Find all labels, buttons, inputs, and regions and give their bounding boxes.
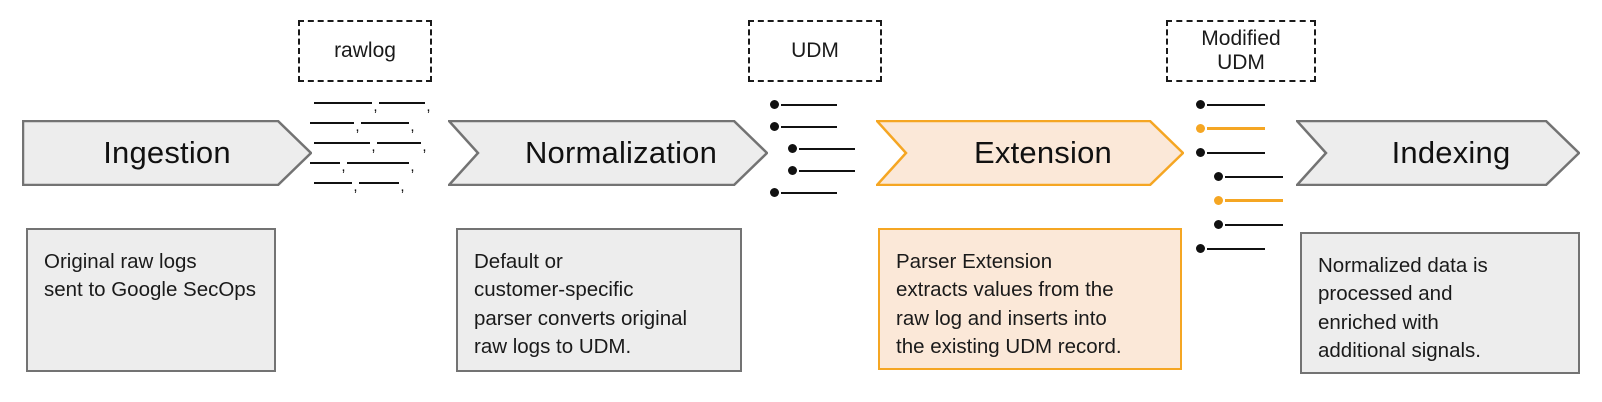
rawlog-dash [379, 102, 425, 104]
udm-bullet-icon [1196, 100, 1205, 109]
rawlog-dash [314, 102, 372, 104]
description-line: parser converts original [474, 305, 726, 333]
udm-bullet-icon [1214, 196, 1223, 205]
udm-field-row [788, 166, 855, 175]
udm-bullet-icon [1196, 124, 1205, 133]
artifact-label-rawlog: rawlog [298, 20, 432, 82]
udm-value-line [1207, 127, 1265, 130]
artifact-label-udm: UDM [748, 20, 882, 82]
description-line: the existing UDM record. [896, 333, 1166, 361]
udm-field-row [770, 100, 837, 109]
description-line: Original raw logs [44, 248, 260, 276]
artifact-label-modified-udm: ModifiedUDM [1166, 20, 1316, 82]
udm-bullet-icon [770, 122, 779, 131]
artifact-label-line: Modified [1201, 27, 1280, 51]
udm-field-row [770, 188, 837, 197]
stage-normalization[interactable]: Normalization [448, 120, 768, 186]
rawlog-line: ,, [310, 118, 416, 128]
udm-bullet-icon [770, 188, 779, 197]
rawlog-line: ,, [310, 158, 416, 168]
rawlog-line: ,, [314, 178, 406, 188]
udm-field-row [770, 122, 837, 131]
rawlog-dash [347, 162, 409, 164]
artifact-label-text: rawlog [334, 39, 396, 63]
description-line: customer-specific [474, 276, 726, 304]
description-line: raw logs to UDM. [474, 333, 726, 361]
udm-value-line [1225, 224, 1283, 226]
rawlog-line: ,, [314, 138, 428, 148]
artifact-label-line: UDM [791, 39, 839, 63]
artifact-label-line: rawlog [334, 39, 396, 63]
description-line: Normalized data is [1318, 252, 1564, 280]
artifact-label-line: UDM [1201, 51, 1280, 75]
description-line: extracts values from the [896, 276, 1166, 304]
rawlog-dash [361, 122, 409, 124]
stage-shape [448, 120, 768, 186]
stage-extension[interactable]: Extension [876, 120, 1184, 186]
rawlog-dash [314, 182, 352, 184]
description-line: raw log and inserts into [896, 305, 1166, 333]
udm-bullet-icon [1196, 148, 1205, 157]
stage-shape [876, 120, 1184, 186]
rawlog-dash [310, 122, 354, 124]
udm-field-row [788, 144, 855, 153]
udm-field-row [1196, 124, 1265, 133]
udm-bullet-icon [1214, 220, 1223, 229]
udm-value-line [799, 148, 855, 150]
udm-bullet-icon [788, 166, 797, 175]
stage-indexing[interactable]: Indexing [1296, 120, 1580, 186]
description-line: processed and [1318, 280, 1564, 308]
udm-value-line [1225, 199, 1283, 202]
udm-field-row [1196, 244, 1265, 253]
description-line: additional signals. [1318, 337, 1564, 365]
udm-value-line [1225, 176, 1283, 178]
stage-shape [22, 120, 312, 186]
artifact-label-text: ModifiedUDM [1201, 27, 1280, 74]
pipeline-diagram: rawlogUDMModifiedUDMIngestionNormalizati… [0, 0, 1602, 402]
description-line: sent to Google SecOps [44, 276, 260, 304]
description-line: enriched with [1318, 309, 1564, 337]
description-line: Parser Extension [896, 248, 1166, 276]
udm-bullet-icon [1196, 244, 1205, 253]
udm-field-row [1214, 172, 1283, 181]
udm-value-line [1207, 104, 1265, 106]
udm-value-line [781, 192, 837, 194]
indexing-description: Normalized data isprocessed andenriched … [1300, 232, 1580, 374]
udm-bullet-icon [1214, 172, 1223, 181]
rawlog-dash [359, 182, 399, 184]
udm-field-row [1196, 148, 1265, 157]
udm-bullet-icon [788, 144, 797, 153]
artifact-label-text: UDM [791, 39, 839, 63]
udm-value-line [1207, 248, 1265, 250]
udm-value-line [781, 126, 837, 128]
rawlog-dash [314, 142, 370, 144]
normalization-description: Default orcustomer-specificparser conver… [456, 228, 742, 372]
udm-value-line [1207, 152, 1265, 154]
stage-shape [1296, 120, 1580, 186]
udm-field-row [1214, 196, 1283, 205]
udm-value-line [799, 170, 855, 172]
stage-ingestion[interactable]: Ingestion [22, 120, 312, 186]
udm-value-line [781, 104, 837, 106]
udm-field-row [1214, 220, 1283, 229]
rawlog-dash [377, 142, 421, 144]
udm-field-row [1196, 100, 1265, 109]
description-line: Default or [474, 248, 726, 276]
ingestion-description: Original raw logssent to Google SecOps [26, 228, 276, 372]
rawlog-line: ,, [314, 98, 432, 108]
udm-bullet-icon [770, 100, 779, 109]
rawlog-dash [310, 162, 340, 164]
extension-description: Parser Extensionextracts values from the… [878, 228, 1182, 370]
